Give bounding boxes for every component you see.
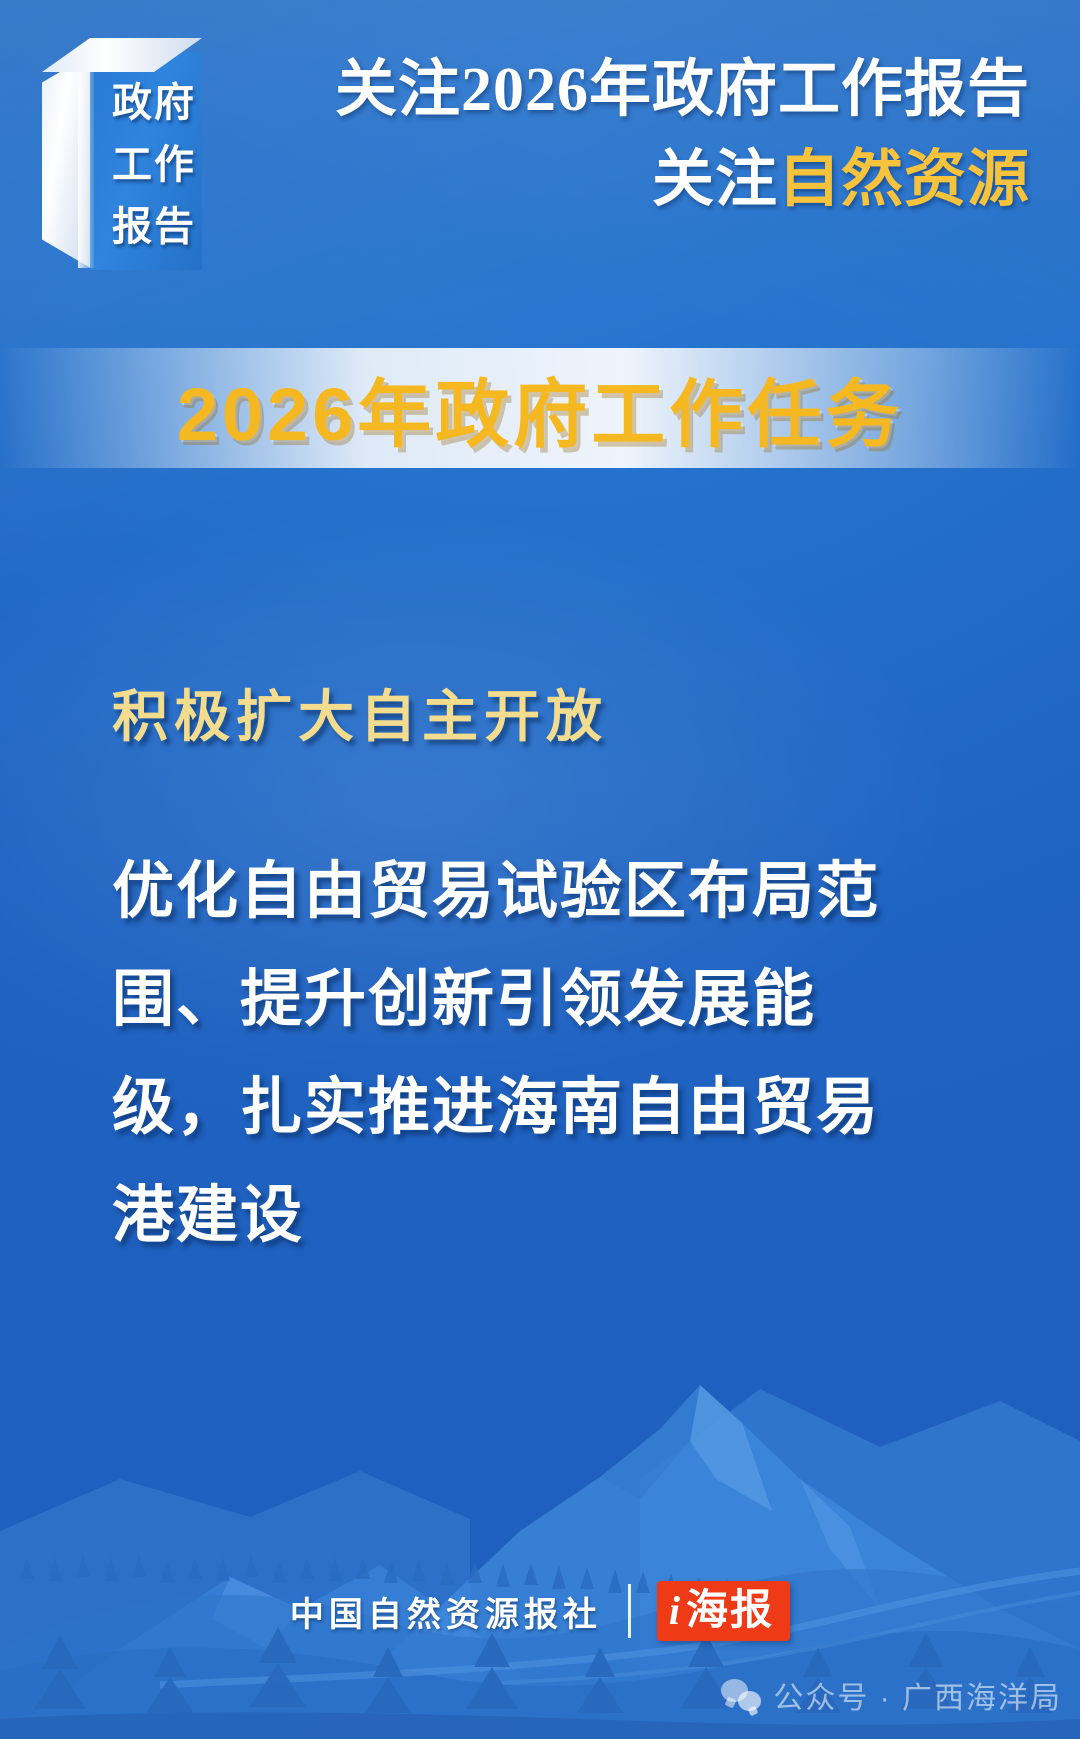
wechat-watermark-label: 公众号 · 广西海洋局 [773,1673,1062,1717]
task-paragraph-line: 优化自由贸易试验区布局范 [112,838,992,946]
task-subheading: 积极扩大自主开放 [112,672,608,753]
logo-label-line-3: 报告 [102,196,206,258]
wechat-icon-bubble-small [738,1691,761,1711]
wechat-icon [721,1679,761,1711]
landscape-svg [0,1179,1080,1739]
wechat-watermark: 公众号 · 广西海洋局 [721,1673,1062,1717]
publisher-name: 中国自然资源报社 [290,1587,602,1636]
logo-label-line-1: 政府 [102,72,206,134]
header-title-primary: 关注2026年政府工作报告 [300,52,1040,128]
badge-label: 海报 [686,1587,774,1633]
task-paragraph-line: 围、提升创新引领发展能 [112,946,992,1054]
header-title-secondary-white: 关注 [652,145,778,214]
poster-header: 政府 工作 报告 关注2026年政府工作报告 关注自然资源 [0,0,1080,300]
poster-footer: 中国自然资源报社 i 海报 [0,1569,1080,1653]
header-title-secondary-gold: 自然资源 [778,145,1030,214]
badge-i-letter: i [669,1589,680,1633]
section-title: 2026年政府工作任务 [0,350,1080,466]
header-titles: 关注2026年政府工作报告 关注自然资源 [300,52,1040,218]
poster-canvas: 政府 工作 报告 关注2026年政府工作报告 关注自然资源 2026年政府工作任… [0,0,1080,1739]
mountain-landscape-illustration [0,1179,1080,1739]
logo-label: 政府 工作 报告 [102,72,206,258]
book-edge-highlight [78,54,94,268]
ihaibao-badge: i 海报 [657,1581,790,1641]
header-title-secondary: 关注自然资源 [300,142,1040,218]
footer-divider [628,1584,631,1638]
logo-label-line-2: 工作 [102,134,206,196]
task-paragraph-line: 级，扎实推进海南自由贸易 [112,1054,992,1162]
government-work-report-book-icon: 政府 工作 报告 [42,38,202,270]
